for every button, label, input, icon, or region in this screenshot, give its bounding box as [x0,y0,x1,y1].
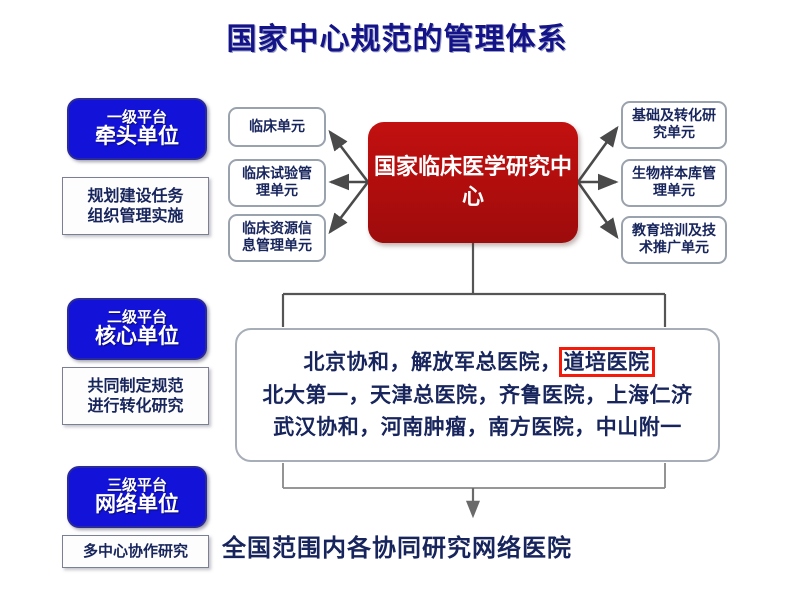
hospital-list-row-1: 北京协和，解放军总医院，道培医院 [304,346,652,379]
hospital-highlight-daopei[interactable]: 道培医院 [562,350,652,374]
unit-box-clinical[interactable]: 临床单元 [228,107,326,147]
level-chip-2[interactable]: 二级平台 核心单位 [67,298,207,360]
level-desc-1: 规划建设任务 组织管理实施 [62,177,209,235]
hospital-list-row-2: 北大第一，天津总医院，齐鲁医院，上海仁济 [263,379,693,412]
unit-box-clinical-trial-mgmt[interactable]: 临床试验管 理单元 [228,159,326,207]
level-desc-2-line2: 进行转化研究 [87,396,183,416]
unit-box-basic-translational-line2: 究单元 [653,125,695,142]
level-chip-3[interactable]: 三级平台 网络单位 [67,466,207,528]
unit-box-clinical-label: 临床单元 [249,119,305,136]
level-chip-1-line2: 牵头单位 [95,125,179,148]
level-desc-2-line1: 共同制定规范 [87,376,183,396]
unit-box-clinical-resource-info-line1: 临床资源信 [242,221,312,238]
level-chip-1[interactable]: 一级平台 牵头单位 [67,98,207,160]
unit-box-clinical-resource-info-line2: 息管理单元 [242,238,312,255]
unit-box-basic-translational-line1: 基础及转化研 [632,108,716,125]
unit-box-biobank-line2: 理单元 [653,183,695,200]
level-chip-2-line1: 二级平台 [107,310,167,326]
level-chip-3-line2: 网络单位 [95,493,179,516]
unit-box-biobank-line1: 生物样本库管 [632,166,716,183]
level-chip-2-line2: 核心单位 [95,325,179,348]
unit-box-education-training[interactable]: 教育培训及技 术推广单元 [621,216,727,264]
slide-canvas: 国家中心规范的管理体系 一级平台 牵头单 [0,0,794,595]
unit-box-education-training-line2: 术推广单元 [639,240,709,257]
unit-box-clinical-resource-info[interactable]: 临床资源信 息管理单元 [228,214,326,262]
level-chip-1-line1: 一级平台 [107,110,167,126]
hospital-list-box[interactable]: 北京协和，解放军总医院，道培医院 北大第一，天津总医院，齐鲁医院，上海仁济 武汉… [235,328,720,462]
unit-box-biobank[interactable]: 生物样本库管 理单元 [621,159,727,207]
center-node-national-clinical-research-center[interactable]: 国家临床医学研究中心 [368,122,578,243]
hospital-list-row-3: 武汉协和，河南肿瘤，南方医院，中山附一 [273,411,682,444]
unit-box-clinical-trial-mgmt-line1: 临床试验管 [242,166,312,183]
level-desc-1-line1: 规划建设任务 [87,186,183,206]
hospital-list-row-1-text: 北京协和，解放军总医院， [304,350,562,374]
level-chip-3-line1: 三级平台 [107,478,167,494]
level-desc-1-line2: 组织管理实施 [87,206,183,226]
unit-box-clinical-trial-mgmt-line2: 理单元 [256,183,298,200]
center-node-label: 国家临床医学研究中心 [368,153,578,212]
unit-box-education-training-line1: 教育培训及技 [632,223,716,240]
bottom-caption: 全国范围内各协同研究网络医院 [0,528,794,563]
level-desc-2: 共同制定规范 进行转化研究 [62,367,209,425]
unit-box-basic-translational[interactable]: 基础及转化研 究单元 [621,101,727,149]
page-title: 国家中心规范的管理体系 [0,14,794,58]
